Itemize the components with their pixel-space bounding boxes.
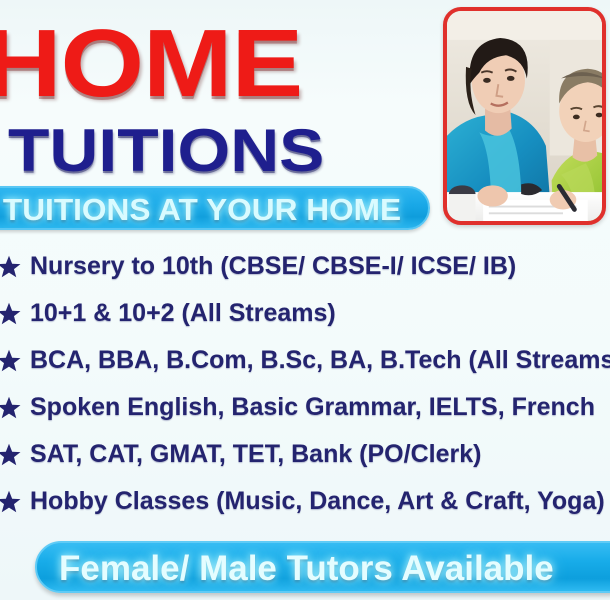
list-item: 10+1 & 10+2 (All Streams) [0, 293, 610, 340]
home-tuitions-poster: HOME TUITIONS TUITIONS AT YOUR HOME [0, 0, 610, 600]
list-item-label: 10+1 & 10+2 (All Streams) [30, 293, 336, 333]
tutor-photo-frame [443, 7, 606, 225]
star-icon [0, 348, 22, 374]
footer-banner-label: Female/ Male Tutors Available [59, 547, 554, 591]
list-item-label: Nursery to 10th (CBSE/ CBSE-I/ ICSE/ IB) [30, 246, 516, 286]
page-title-tuitions: TUITIONS [8, 120, 324, 182]
star-icon [0, 395, 22, 421]
star-icon [0, 489, 22, 515]
tutor-and-child-illustration [447, 11, 602, 221]
list-item-label: Hobby Classes (Music, Dance, Art & Craft… [30, 481, 605, 521]
list-item-label: SAT, CAT, GMAT, TET, Bank (PO/Clerk) [30, 434, 481, 474]
list-item: Nursery to 10th (CBSE/ CBSE-I/ ICSE/ IB) [0, 246, 610, 293]
footer-banner: Female/ Male Tutors Available [35, 541, 610, 593]
star-icon [0, 442, 22, 468]
list-item: SAT, CAT, GMAT, TET, Bank (PO/Clerk) [0, 434, 610, 481]
list-item: Hobby Classes (Music, Dance, Art & Craft… [0, 481, 610, 528]
tagline-banner-label: TUITIONS AT YOUR HOME [0, 191, 418, 229]
tagline-banner: TUITIONS AT YOUR HOME [0, 186, 430, 230]
services-list: Nursery to 10th (CBSE/ CBSE-I/ ICSE/ IB)… [0, 246, 610, 528]
star-icon [0, 301, 22, 327]
list-item: Spoken English, Basic Grammar, IELTS, Fr… [0, 387, 610, 434]
list-item-label: BCA, BBA, B.Com, B.Sc, BA, B.Tech (All S… [30, 340, 610, 380]
page-title-home: HOME [0, 16, 499, 112]
star-icon [0, 254, 22, 280]
list-item-label: Spoken English, Basic Grammar, IELTS, Fr… [30, 387, 595, 427]
list-item: BCA, BBA, B.Com, B.Sc, BA, B.Tech (All S… [0, 340, 610, 387]
tutor-photo [447, 11, 602, 221]
